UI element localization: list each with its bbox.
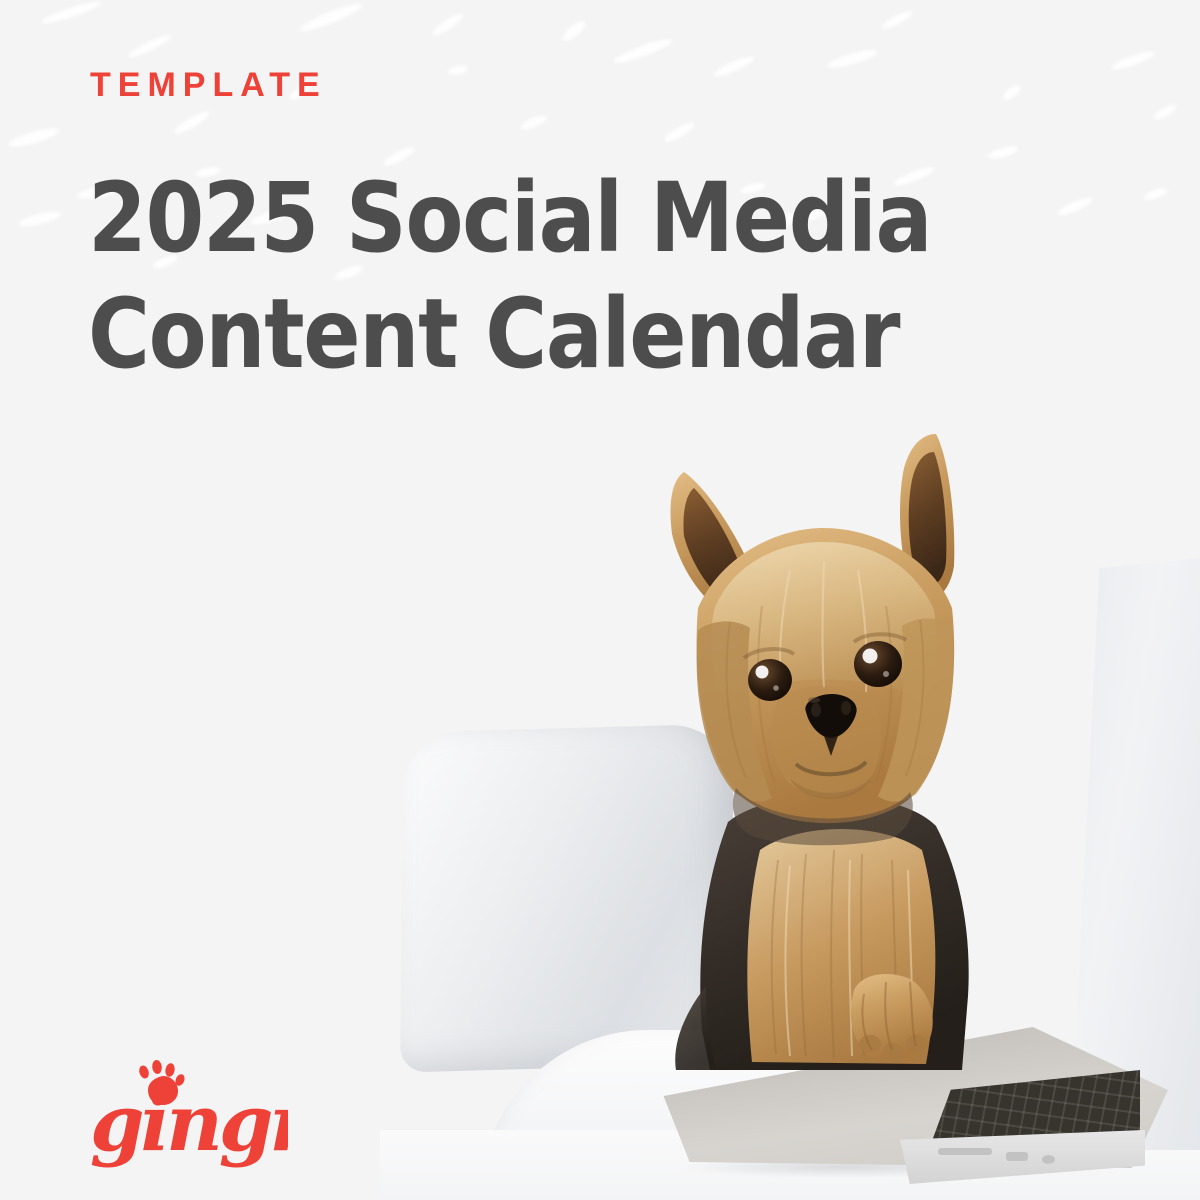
confetti-mark — [1056, 195, 1094, 219]
gingr-logo[interactable]: gingr — [88, 1058, 288, 1168]
gingr-logo-wordmark: gingr — [90, 1078, 288, 1168]
confetti-mark — [7, 125, 60, 150]
confetti-mark — [519, 113, 548, 132]
confetti-mark — [712, 53, 756, 79]
hero-photo — [380, 430, 1200, 1200]
confetti-mark — [880, 8, 914, 31]
laptop-port-slot — [938, 1148, 992, 1155]
page-title: 2025 Social Media Content Calendar — [88, 160, 880, 392]
confetti-mark — [17, 209, 62, 229]
confetti-mark — [612, 36, 674, 67]
confetti-mark — [1152, 102, 1179, 122]
confetti-mark — [127, 32, 174, 60]
confetti-mark — [298, 0, 363, 35]
confetti-mark — [826, 47, 879, 71]
laptop-port-usb — [1006, 1152, 1028, 1161]
confetti-mark — [431, 11, 466, 39]
page-title-line-1: 2025 Social Media — [88, 160, 880, 276]
poster-canvas: TEMPLATE 2025 Social Media Content Calen… — [0, 0, 1200, 1200]
confetti-mark — [560, 18, 588, 44]
template-eyebrow-label: TEMPLATE — [90, 68, 327, 102]
confetti-mark — [1110, 48, 1156, 72]
confetti-mark — [987, 144, 1018, 161]
confetti-mark — [1001, 83, 1022, 102]
confetti-mark — [662, 120, 696, 145]
page-title-line-2: Content Calendar — [88, 276, 880, 392]
dog-illustration — [610, 430, 1040, 1070]
confetti-mark — [1143, 186, 1168, 201]
confetti-mark — [172, 109, 211, 137]
confetti-mark — [40, 0, 102, 26]
confetti-mark — [447, 64, 468, 76]
laptop-port-audio — [1042, 1155, 1055, 1164]
